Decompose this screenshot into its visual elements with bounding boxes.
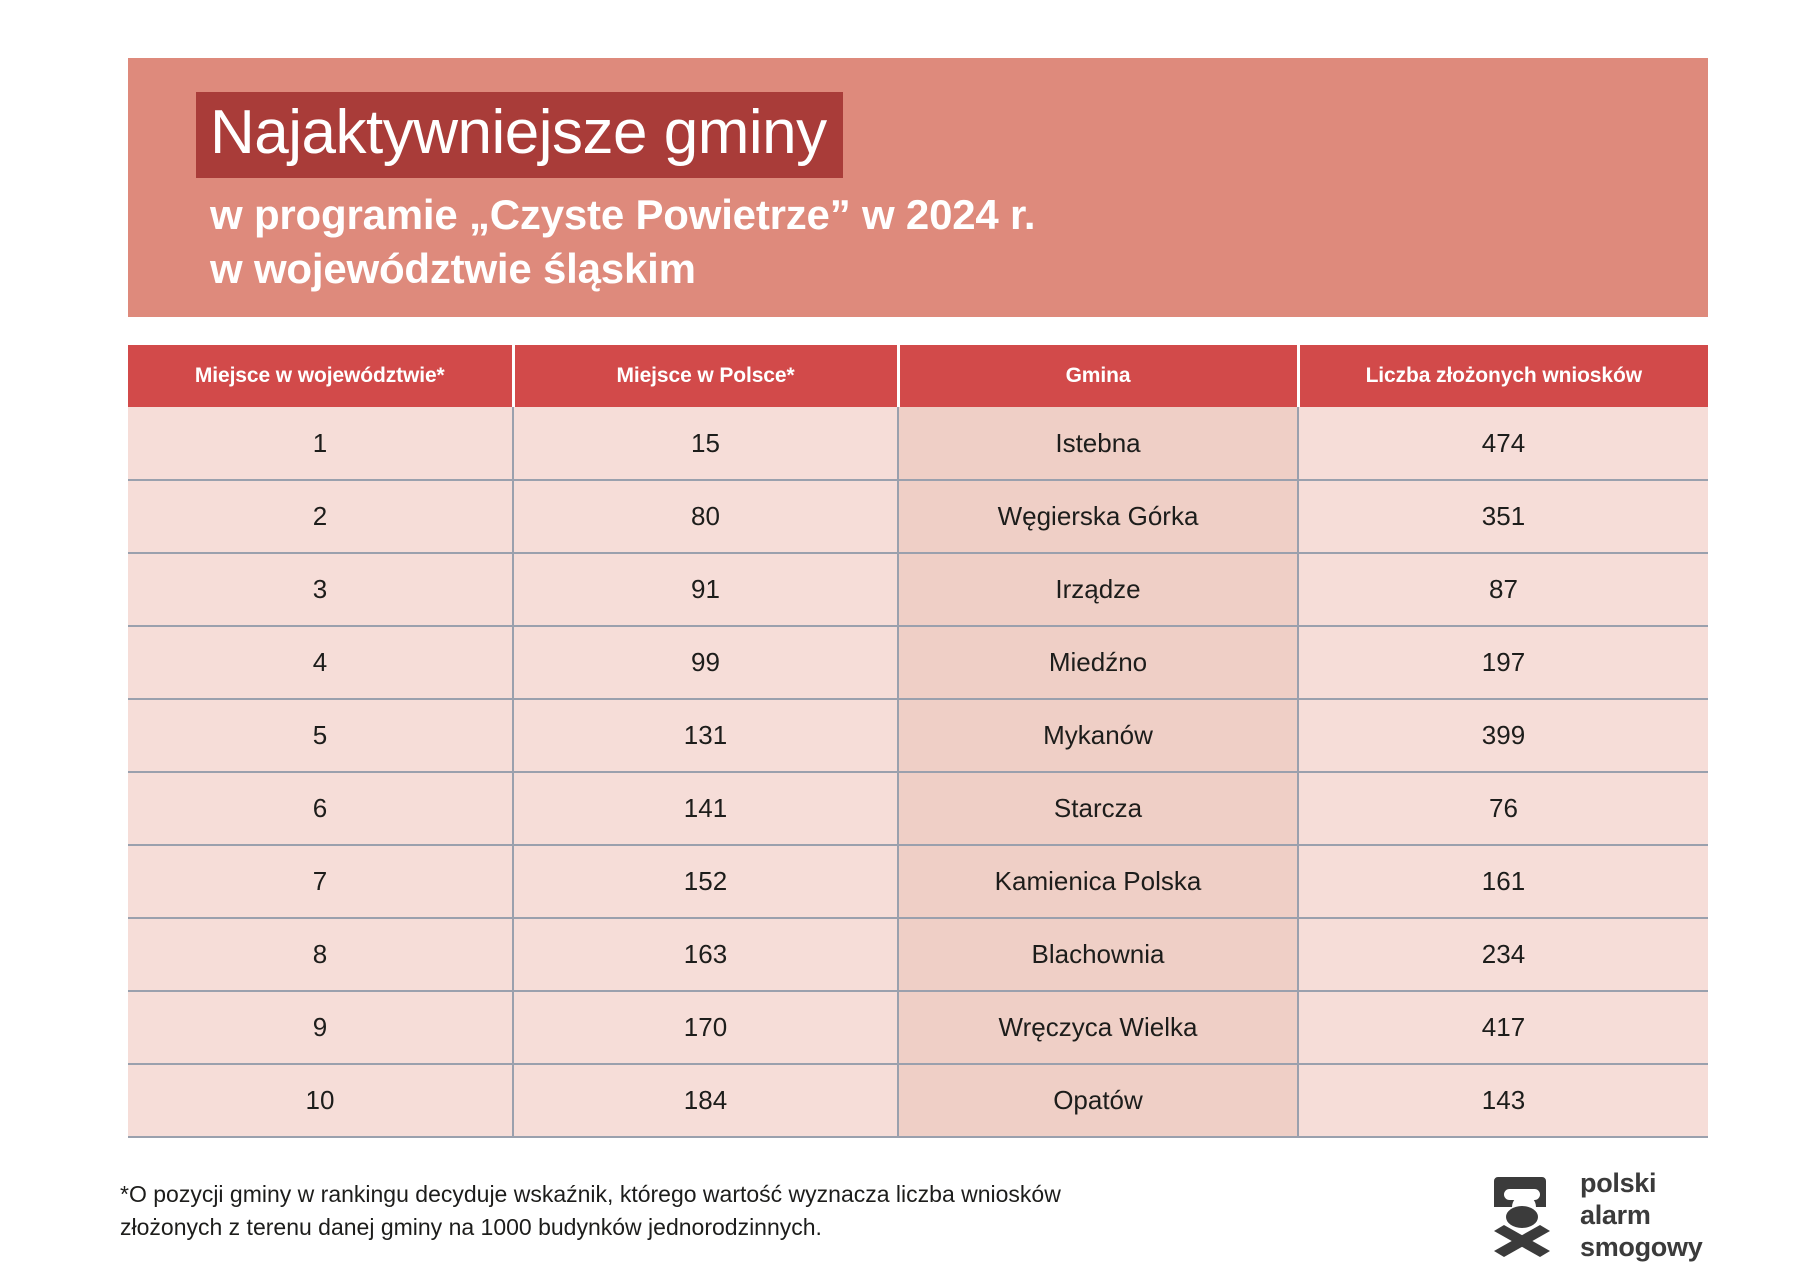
page-title: Najaktywniejsze gminy	[196, 92, 843, 178]
column-header-liczba-wnioskow: Liczba złożonych wniosków	[1298, 345, 1708, 407]
cell-gmina: Starcza	[898, 772, 1298, 845]
cell-liczba-wnioskow: 161	[1298, 845, 1708, 918]
page-subtitle: w programie „Czyste Powietrze” w 2024 r.…	[210, 188, 1688, 296]
table-row: 3 91 Irządze 87	[128, 553, 1708, 626]
table-header: Miejsce w województwie* Miejsce w Polsce…	[128, 345, 1708, 407]
cell-liczba-wnioskow: 474	[1298, 407, 1708, 480]
column-header-gmina: Gmina	[898, 345, 1298, 407]
logo-wordmark: polski alarm smogowy	[1580, 1168, 1702, 1264]
cell-liczba-wnioskow: 143	[1298, 1064, 1708, 1137]
cell-miejsce-wojewodztwie: 7	[128, 845, 513, 918]
cell-miejsce-polsce: 152	[513, 845, 898, 918]
cell-miejsce-wojewodztwie: 1	[128, 407, 513, 480]
polski-alarm-smogowy-logo: polski alarm smogowy	[1488, 1168, 1702, 1264]
cell-miejsce-wojewodztwie: 4	[128, 626, 513, 699]
cell-miejsce-polsce: 170	[513, 991, 898, 1064]
skull-crossbones-icon	[1488, 1173, 1562, 1259]
cell-miejsce-wojewodztwie: 9	[128, 991, 513, 1064]
cell-liczba-wnioskow: 197	[1298, 626, 1708, 699]
table-row: 6 141 Starcza 76	[128, 772, 1708, 845]
cell-gmina: Miedźno	[898, 626, 1298, 699]
cell-miejsce-wojewodztwie: 5	[128, 699, 513, 772]
footnote: *O pozycji gminy w rankingu decyduje wsk…	[120, 1178, 1220, 1245]
cell-miejsce-polsce: 91	[513, 553, 898, 626]
cell-miejsce-polsce: 163	[513, 918, 898, 991]
cell-liczba-wnioskow: 76	[1298, 772, 1708, 845]
table-row: 4 99 Miedźno 197	[128, 626, 1708, 699]
footnote-line-1: *O pozycji gminy w rankingu decyduje wsk…	[120, 1178, 1220, 1211]
cell-miejsce-wojewodztwie: 6	[128, 772, 513, 845]
table-row: 1 15 Istebna 474	[128, 407, 1708, 480]
table-row: 7 152 Kamienica Polska 161	[128, 845, 1708, 918]
table-row: 10 184 Opatów 143	[128, 1064, 1708, 1137]
cell-miejsce-wojewodztwie: 10	[128, 1064, 513, 1137]
logo-line-3: smogowy	[1580, 1232, 1702, 1264]
cell-gmina: Mykanów	[898, 699, 1298, 772]
title-banner: Najaktywniejsze gminy w programie „Czyst…	[128, 58, 1708, 317]
cell-miejsce-polsce: 131	[513, 699, 898, 772]
infographic-page: Najaktywniejsze gminy w programie „Czyst…	[0, 0, 1800, 1273]
cell-liczba-wnioskow: 351	[1298, 480, 1708, 553]
cell-miejsce-polsce: 15	[513, 407, 898, 480]
footnote-line-2: złożonych z terenu danej gminy na 1000 b…	[120, 1211, 1220, 1244]
table-body: 1 15 Istebna 474 2 80 Węgierska Górka 35…	[128, 407, 1708, 1137]
cell-gmina: Wręczyca Wielka	[898, 991, 1298, 1064]
page-subtitle-line-2: w województwie śląskim	[210, 242, 1688, 296]
logo-line-1: polski	[1580, 1168, 1702, 1200]
cell-gmina: Blachownia	[898, 918, 1298, 991]
column-header-miejsce-polsce: Miejsce w Polsce*	[513, 345, 898, 407]
cell-miejsce-polsce: 184	[513, 1064, 898, 1137]
cell-liczba-wnioskow: 87	[1298, 553, 1708, 626]
cell-liczba-wnioskow: 417	[1298, 991, 1708, 1064]
cell-miejsce-wojewodztwie: 8	[128, 918, 513, 991]
column-header-miejsce-wojewodztwie: Miejsce w województwie*	[128, 345, 513, 407]
title-wrap: Najaktywniejsze gminy w programie „Czyst…	[196, 92, 1688, 296]
cell-gmina: Kamienica Polska	[898, 845, 1298, 918]
cell-miejsce-wojewodztwie: 3	[128, 553, 513, 626]
logo-line-2: alarm	[1580, 1200, 1702, 1232]
cell-liczba-wnioskow: 399	[1298, 699, 1708, 772]
cell-gmina: Opatów	[898, 1064, 1298, 1137]
cell-miejsce-polsce: 80	[513, 480, 898, 553]
cell-liczba-wnioskow: 234	[1298, 918, 1708, 991]
table-header-row: Miejsce w województwie* Miejsce w Polsce…	[128, 345, 1708, 407]
cell-gmina: Węgierska Górka	[898, 480, 1298, 553]
page-subtitle-line-1: w programie „Czyste Powietrze” w 2024 r.	[210, 188, 1688, 242]
cell-gmina: Irządze	[898, 553, 1298, 626]
cell-miejsce-polsce: 99	[513, 626, 898, 699]
table-row: 2 80 Węgierska Górka 351	[128, 480, 1708, 553]
ranking-table: Miejsce w województwie* Miejsce w Polsce…	[128, 345, 1708, 1138]
cell-gmina: Istebna	[898, 407, 1298, 480]
table-row: 5 131 Mykanów 399	[128, 699, 1708, 772]
table-row: 8 163 Blachownia 234	[128, 918, 1708, 991]
cell-miejsce-wojewodztwie: 2	[128, 480, 513, 553]
table-row: 9 170 Wręczyca Wielka 417	[128, 991, 1708, 1064]
cell-miejsce-polsce: 141	[513, 772, 898, 845]
